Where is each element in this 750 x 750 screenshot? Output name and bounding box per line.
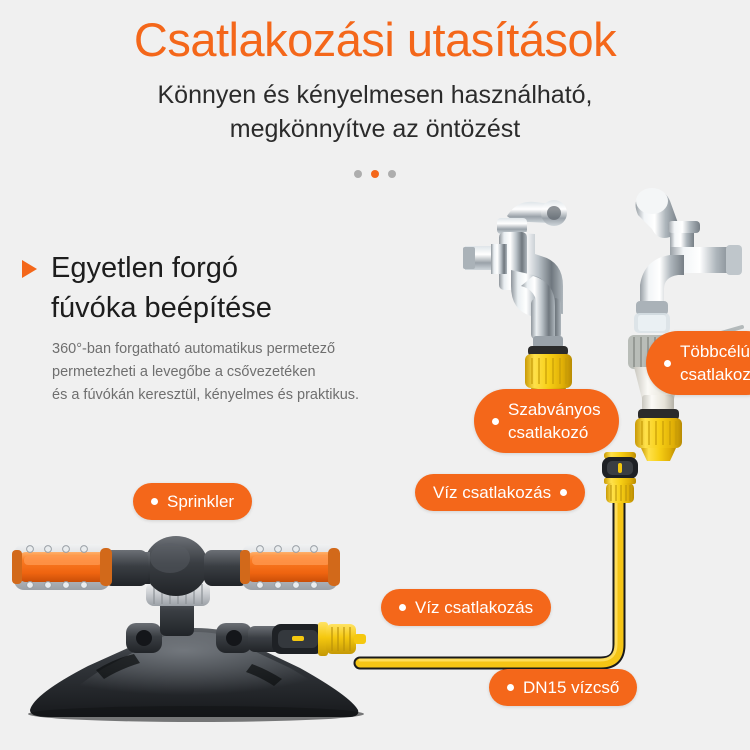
label-sprinkler[interactable]: Sprinkler <box>133 483 252 520</box>
label-hose-text: DN15 vízcső <box>523 676 619 699</box>
feature-title-line-2: fúvóka beépítése <box>51 288 272 328</box>
label-multipurpose-connector[interactable]: Többcélú csatlakozó <box>646 331 750 395</box>
bullet-dot-icon <box>151 498 158 505</box>
bullet-dot-icon <box>507 684 514 691</box>
label-water-connection-top[interactable]: Víz csatlakozás <box>415 474 585 511</box>
feature-title: Egyetlen forgó fúvóka beépítése <box>51 248 272 328</box>
feature-description-line-1: 360°-ban forgatható automatikus permetez… <box>52 338 447 361</box>
page-title: Csatlakozási utasítások <box>0 12 750 68</box>
label-sprinkler-text: Sprinkler <box>167 490 234 513</box>
label-hose[interactable]: DN15 vízcső <box>489 669 637 706</box>
label-standard-connector-text: Szabványos csatlakozó <box>508 398 601 444</box>
feature-description-line-3: és a fúvókán keresztül, kényelmes és pra… <box>52 384 447 407</box>
page-subtitle: Könnyen és kényelmesen használható, megk… <box>0 78 750 146</box>
hose-coupling-illustration <box>594 450 646 512</box>
label-standard-connector[interactable]: Szabványos csatlakozó <box>474 389 619 453</box>
bullet-dot-icon <box>492 418 499 425</box>
infographic-canvas: Csatlakozási utasítások Könnyen és kénye… <box>0 0 750 750</box>
bullet-dot-icon <box>560 489 567 496</box>
label-water-connection-mid[interactable]: Víz csatlakozás <box>381 589 551 626</box>
bullet-dot-icon <box>399 604 406 611</box>
feature-block: Egyetlen forgó fúvóka beépítése 360°-ban… <box>22 248 452 407</box>
label-water-connection-mid-text: Víz csatlakozás <box>415 596 533 619</box>
pagination-dots <box>0 170 750 178</box>
label-water-connection-top-text: Víz csatlakozás <box>433 481 551 504</box>
faucet-multipurpose-illustration <box>608 185 748 465</box>
subtitle-line-1: Könnyen és kényelmesen használható, <box>0 78 750 112</box>
feature-description-line-2: permetezheti a levegőbe a csővezetéken <box>52 361 447 384</box>
pagination-dot-3[interactable] <box>388 170 396 178</box>
sprinkler-illustration <box>0 518 400 723</box>
feature-heading: Egyetlen forgó fúvóka beépítése <box>22 248 452 328</box>
pagination-dot-2[interactable] <box>371 170 379 178</box>
subtitle-line-2: megkönnyítve az öntözést <box>0 112 750 146</box>
label-multipurpose-connector-text: Többcélú csatlakozó <box>680 340 750 386</box>
triangle-right-icon <box>22 260 37 278</box>
feature-title-line-1: Egyetlen forgó <box>51 248 272 288</box>
bullet-dot-icon <box>664 360 671 367</box>
feature-description: 360°-ban forgatható automatikus permetez… <box>52 338 447 407</box>
pagination-dot-1[interactable] <box>354 170 362 178</box>
